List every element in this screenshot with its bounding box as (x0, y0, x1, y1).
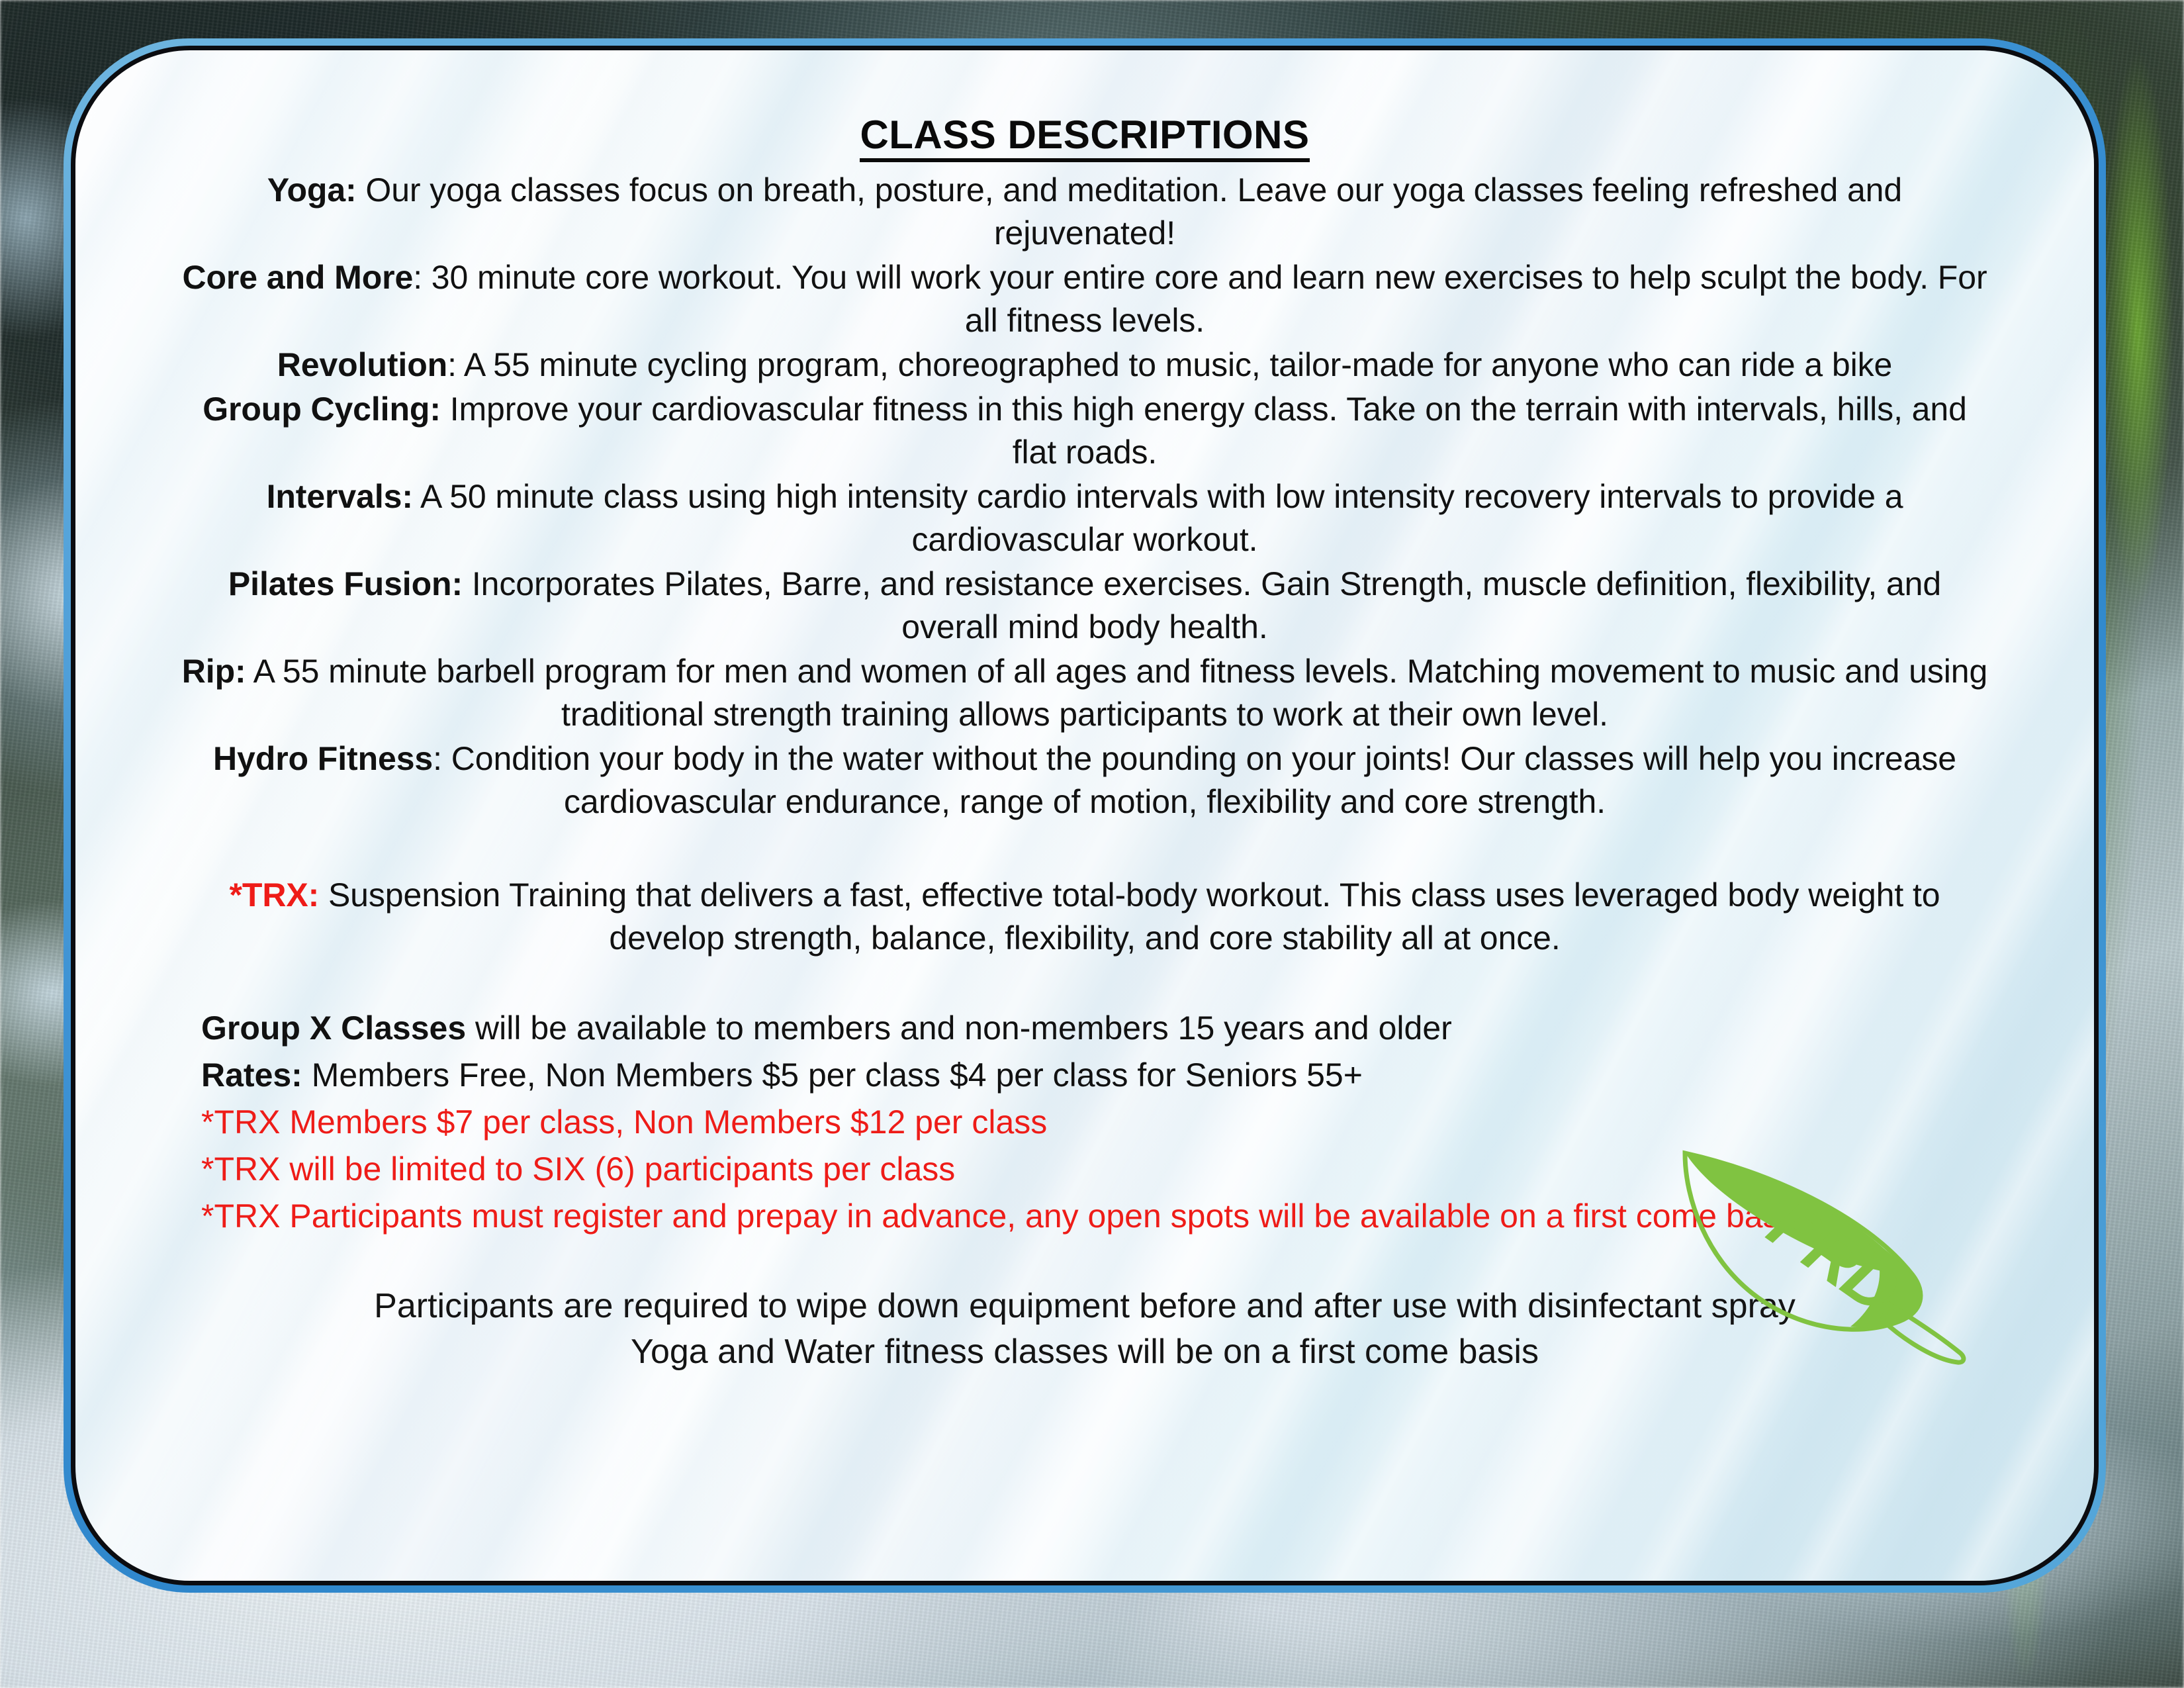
class-description-item: Intervals: A 50 minute class using high … (181, 475, 1988, 561)
rates-item-group-x: Group X Classes will be available to mem… (201, 1005, 1988, 1052)
class-sep (357, 171, 366, 209)
trx-description-block: *TRX: Suspension Training that delivers … (181, 874, 1988, 960)
class-sep (319, 876, 328, 914)
class-description-item: Pilates Fusion: Incorporates Pilates, Ba… (181, 563, 1988, 649)
spacer-before-trx (155, 825, 2015, 874)
class-body: : A 55 minute cycling program, choreogra… (447, 346, 1892, 383)
class-description-item: Revolution: A 55 minute cycling program,… (181, 344, 1988, 387)
class-name-intervals: Intervals: (267, 478, 413, 515)
rates-item-rates: Rates: Members Free, Non Members $5 per … (201, 1052, 1988, 1099)
spacer-before-rates (155, 961, 2015, 1005)
class-description-item-trx: *TRX: Suspension Training that delivers … (181, 874, 1988, 960)
prd-leaf-logo: PRD (1666, 1135, 1978, 1373)
class-body: Improve your cardiovascular fitness in t… (450, 391, 1967, 471)
flyer-card: CLASS DESCRIPTIONS Yoga: Our yoga classe… (71, 46, 2099, 1585)
class-description-item: Rip: A 55 minute barbell program for men… (181, 650, 1988, 736)
class-sep (413, 478, 420, 515)
rates-text: *TRX Participants must register and prep… (201, 1197, 1803, 1235)
rates-label-group-x: Group X Classes (201, 1009, 466, 1047)
class-body: Suspension Training that delivers a fast… (328, 876, 1940, 957)
class-name-core-and-more: Core and More (182, 259, 413, 296)
class-body: : 30 minute core workout. You will work … (413, 259, 1987, 339)
class-sep (246, 653, 253, 690)
class-sep (463, 565, 472, 602)
flyer-card-border: CLASS DESCRIPTIONS Yoga: Our yoga classe… (64, 38, 2106, 1593)
class-description-item: Group Cycling: Improve your cardiovascul… (181, 388, 1988, 474)
class-description-item: Hydro Fitness: Condition your body in th… (181, 737, 1988, 823)
class-name-pilates-fusion: Pilates Fusion: (228, 565, 463, 602)
class-body: Our yoga classes focus on breath, postur… (365, 171, 1902, 252)
class-body: Incorporates Pilates, Barre, and resista… (472, 565, 1941, 645)
class-name-yoga: Yoga: (267, 171, 357, 209)
rates-text: *TRX Members $7 per class, Non Members $… (201, 1103, 1047, 1141)
class-descriptions-list: Yoga: Our yoga classes focus on breath, … (181, 169, 1988, 823)
class-description-item: Core and More: 30 minute core workout. Y… (181, 256, 1988, 342)
page-title-wrap: CLASS DESCRIPTIONS (155, 114, 2015, 169)
class-body: A 55 minute barbell program for men and … (253, 653, 1988, 733)
class-body: : Condition your body in the water witho… (433, 740, 1956, 820)
rates-text: *TRX will be limited to SIX (6) particip… (201, 1150, 955, 1188)
class-name-revolution: Revolution (277, 346, 447, 383)
class-name-hydro-fitness: Hydro Fitness (213, 740, 433, 777)
rates-text: Members Free, Non Members $5 per class $… (302, 1056, 1363, 1094)
class-name-trx: *TRX: (230, 876, 320, 914)
class-name-rip: Rip: (182, 653, 246, 690)
rates-text: will be available to members and non-mem… (466, 1009, 1452, 1047)
class-sep (441, 391, 450, 428)
class-body: A 50 minute class using high intensity c… (420, 478, 1903, 558)
rates-label-rates: Rates: (201, 1056, 302, 1094)
page-title: CLASS DESCRIPTIONS (860, 114, 1309, 162)
class-name-group-cycling: Group Cycling: (203, 391, 441, 428)
class-description-item: Yoga: Our yoga classes focus on breath, … (181, 169, 1988, 255)
